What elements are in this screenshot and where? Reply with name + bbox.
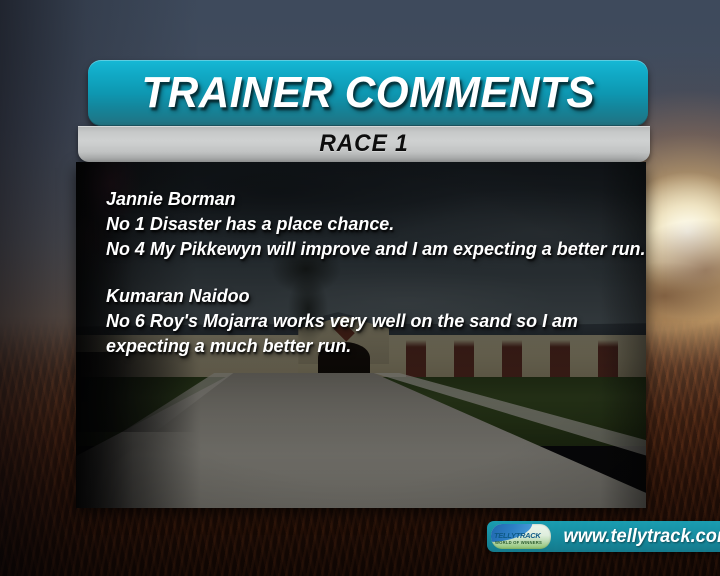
page-title: TRAINER COMMENTS: [141, 68, 595, 118]
comment-entry: Kumaran Naidoo No 6 Roy's Mojarra works …: [106, 283, 638, 358]
race-number-label: RACE 1: [319, 130, 408, 158]
trainer-name: Jannie Borman: [106, 186, 622, 211]
logo-name: TELLYTRACK: [494, 532, 548, 540]
website-url[interactable]: www.tellytrack.com: [564, 526, 720, 548]
comment-line: No 4 My Pikkewyn will improve and I am e…: [106, 236, 622, 261]
comment-entry: Jannie Borman No 1 Disaster has a place …: [106, 186, 638, 261]
tellytrack-logo-icon: TELLYTRACK WORLD OF WINNERS: [491, 524, 551, 549]
broadcast-graphic-screen: TRAINER COMMENTS RACE 1 Jannie Borman No…: [0, 0, 720, 576]
comments-panel: Jannie Borman No 1 Disaster has a place …: [76, 162, 646, 508]
comments-list: Jannie Borman No 1 Disaster has a place …: [106, 186, 638, 358]
logo-tagline: WORLD OF WINNERS: [495, 540, 547, 545]
title-plate: TRAINER COMMENTS: [88, 60, 648, 126]
trainer-name: Kumaran Naidoo: [106, 283, 622, 308]
comment-line: No 6 Roy's Mojarra works very well on th…: [106, 308, 622, 333]
race-plate: RACE 1: [78, 126, 650, 162]
tellytrack-watermark[interactable]: TELLYTRACK WORLD OF WINNERS www.tellytra…: [487, 521, 720, 552]
comment-line: No 1 Disaster has a place chance.: [106, 211, 622, 236]
comment-line: expecting a much better run.: [106, 333, 622, 358]
